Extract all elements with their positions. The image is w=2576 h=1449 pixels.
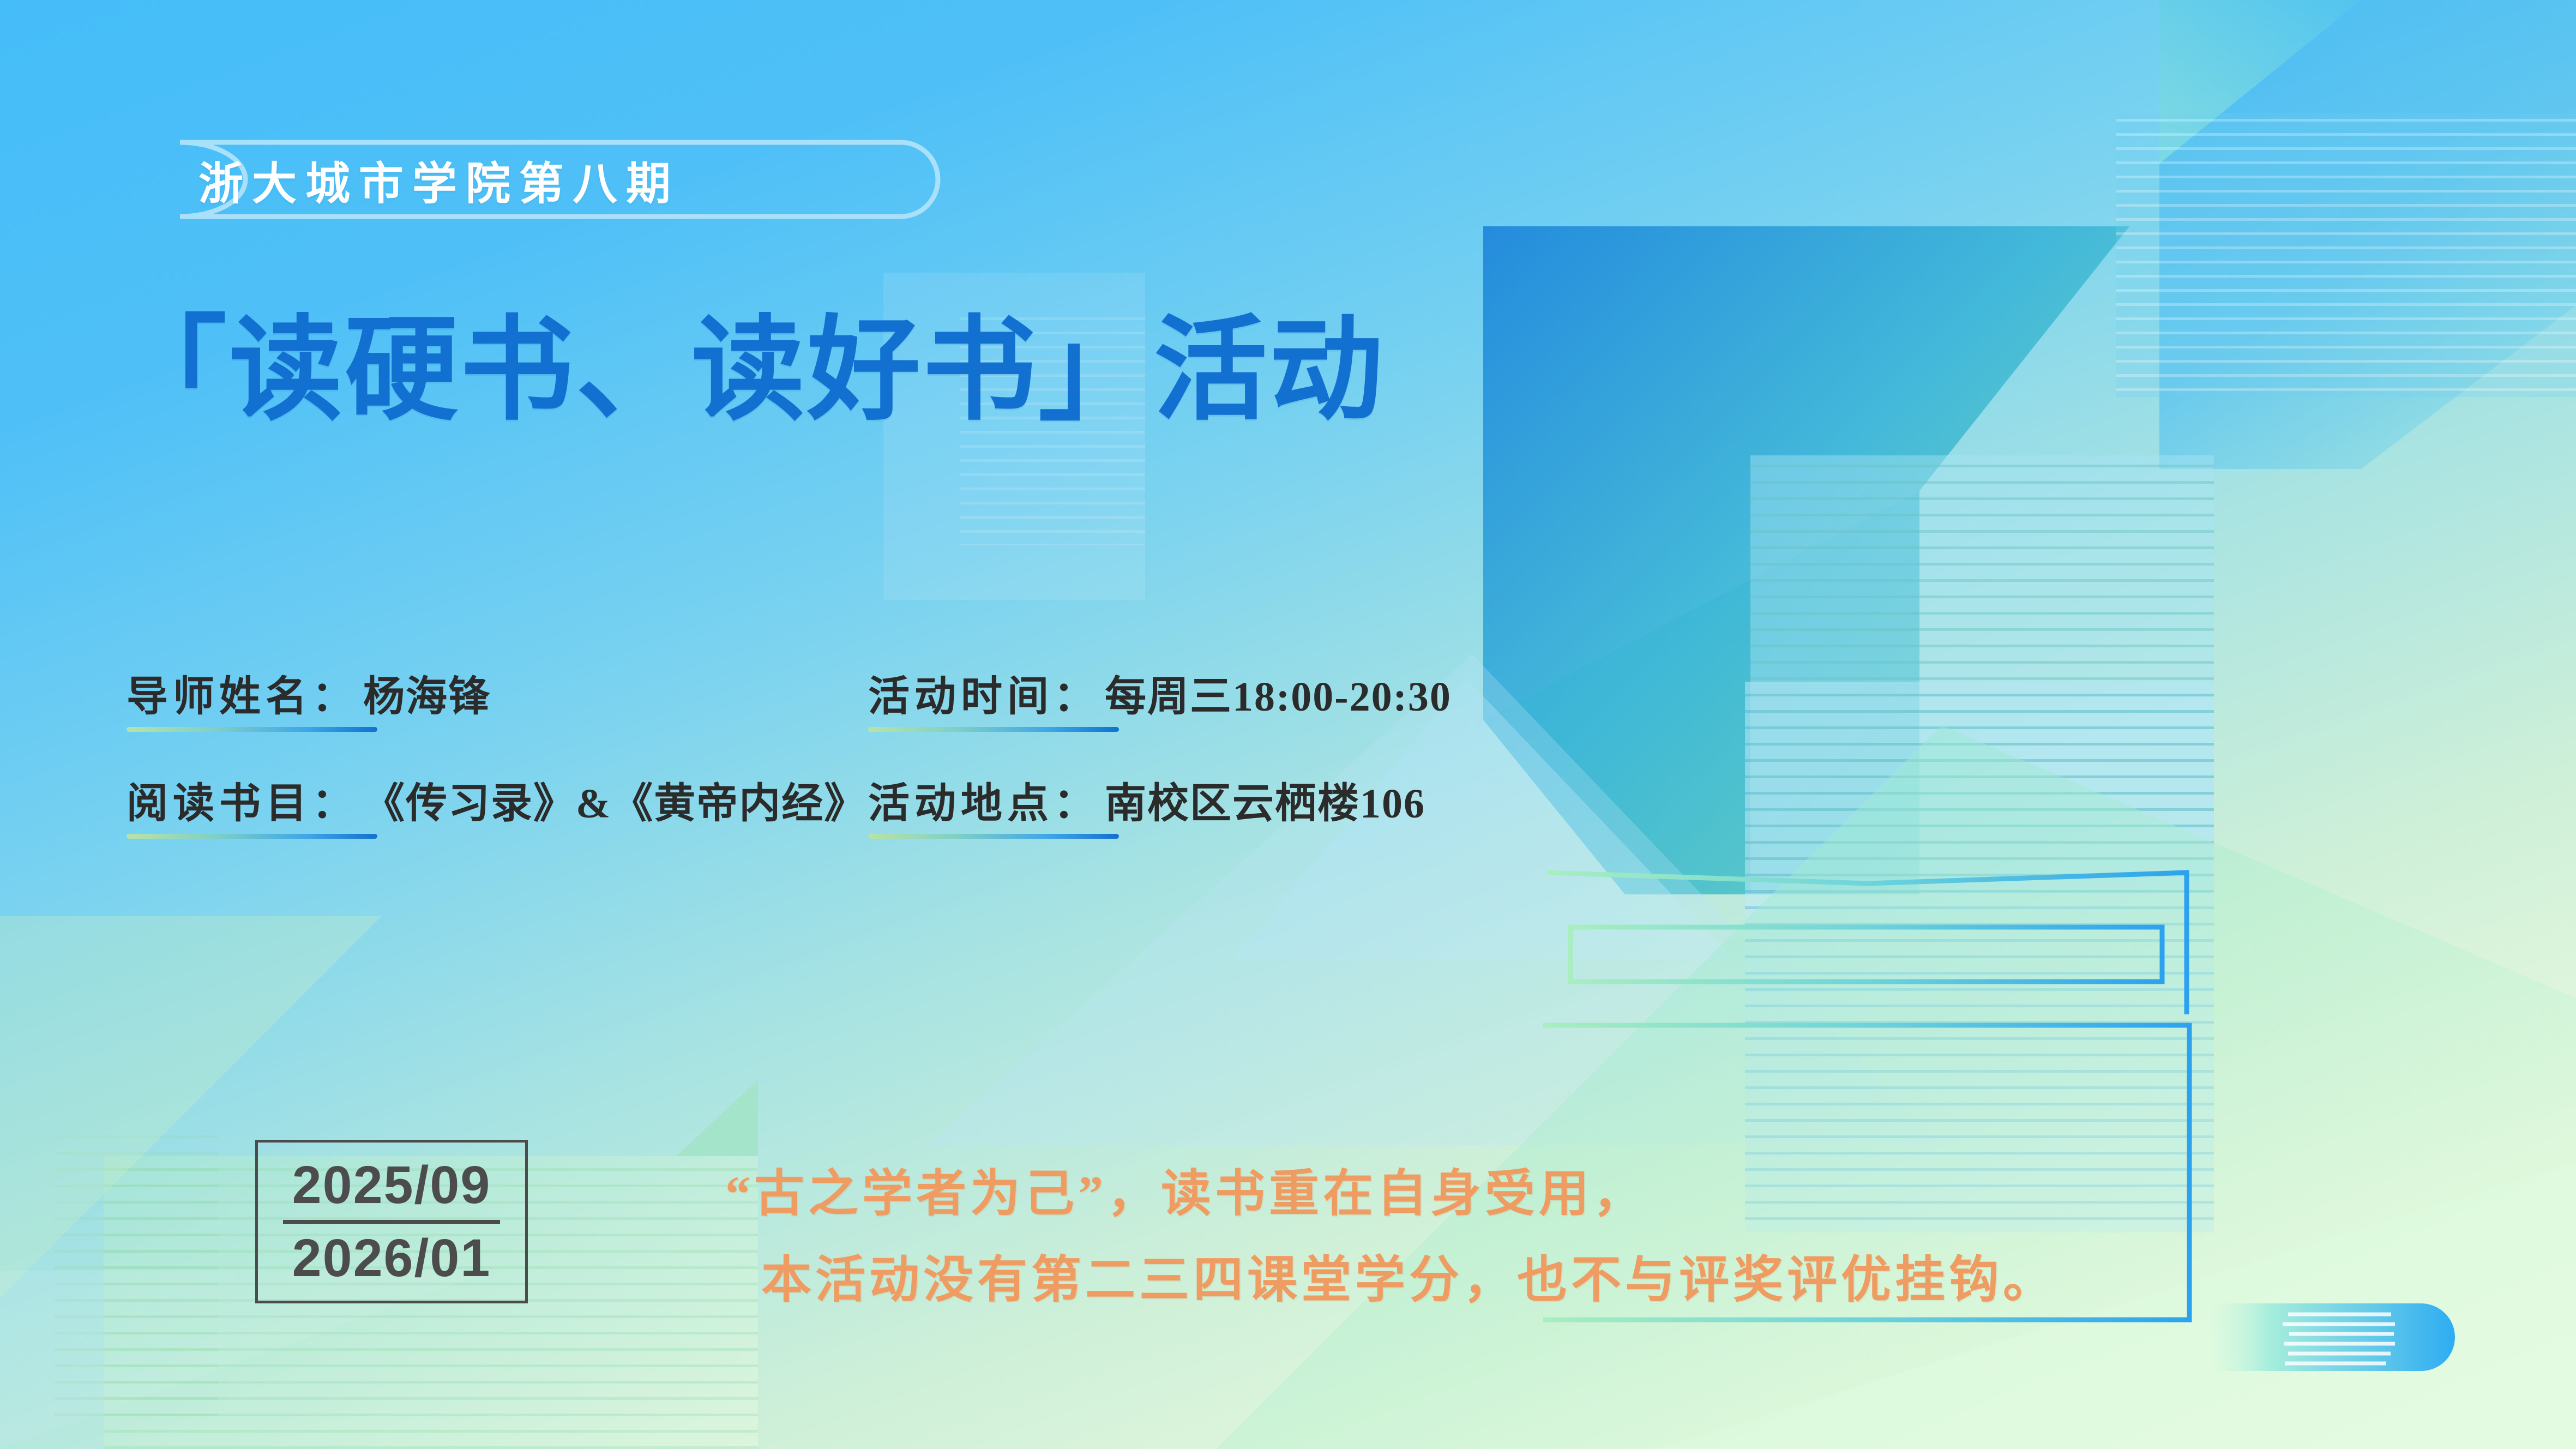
date-separator	[283, 1220, 500, 1224]
info-label-instructor: 导师姓名	[127, 663, 312, 723]
quote-line-2: 本活动没有第二三四课堂学分，也不与评奖评优挂钩。	[725, 1237, 2057, 1323]
decor-page-top-right	[2116, 113, 2576, 397]
info-item-books: 阅读书目 ： 《传习录》&《黄帝内经》	[127, 769, 868, 876]
info-item-time: 活动时间 ： 每周三18:00-20:30	[868, 663, 1599, 769]
poster-canvas: 浙大城市学院第八期 「读硬书、读好书」活动 导师姓名 ： 杨海锋 活动时间 ： …	[0, 0, 2576, 1449]
date-end: 2026/01	[292, 1227, 491, 1289]
info-grid: 导师姓名 ： 杨海锋 活动时间 ： 每周三18:00-20:30 阅读书目 ： …	[127, 663, 1599, 876]
info-underline-instructor	[127, 727, 377, 732]
info-colon-books: ：	[312, 769, 353, 829]
info-colon-time: ：	[1054, 663, 1095, 723]
info-value-time: 每周三18:00-20:30	[1105, 663, 1452, 723]
date-range-box: 2025/09 2026/01	[255, 1140, 528, 1303]
badge-banner: 浙大城市学院第八期	[116, 139, 944, 220]
info-underline-books	[127, 834, 377, 839]
info-item-instructor: 导师姓名 ： 杨海锋	[127, 663, 868, 769]
info-value-books: 《传习录》&《黄帝内经》	[363, 769, 866, 829]
info-colon-instructor: ：	[312, 663, 353, 723]
info-label-location: 活动地点	[868, 769, 1054, 829]
date-start: 2025/09	[292, 1154, 491, 1216]
info-colon-location: ：	[1054, 769, 1095, 829]
decor-book-spine-icon	[2208, 1303, 2455, 1371]
info-label-books: 阅读书目	[127, 769, 312, 829]
info-underline-location	[868, 834, 1119, 839]
info-value-location: 南校区云栖楼106	[1105, 769, 1425, 829]
badge-label: 浙大城市学院第八期	[198, 139, 679, 220]
quote-line-1: “古之学者为己”，读书重在自身受用，	[725, 1151, 2057, 1237]
page-title: 「读硬书、读好书」活动	[113, 311, 1385, 430]
quote-block: “古之学者为己”，读书重在自身受用， 本活动没有第二三四课堂学分，也不与评奖评优…	[725, 1151, 2057, 1323]
info-underline-time	[868, 727, 1119, 732]
info-item-location: 活动地点 ： 南校区云栖楼106	[868, 769, 1599, 876]
info-value-instructor: 杨海锋	[363, 663, 491, 723]
info-label-time: 活动时间	[868, 663, 1054, 723]
